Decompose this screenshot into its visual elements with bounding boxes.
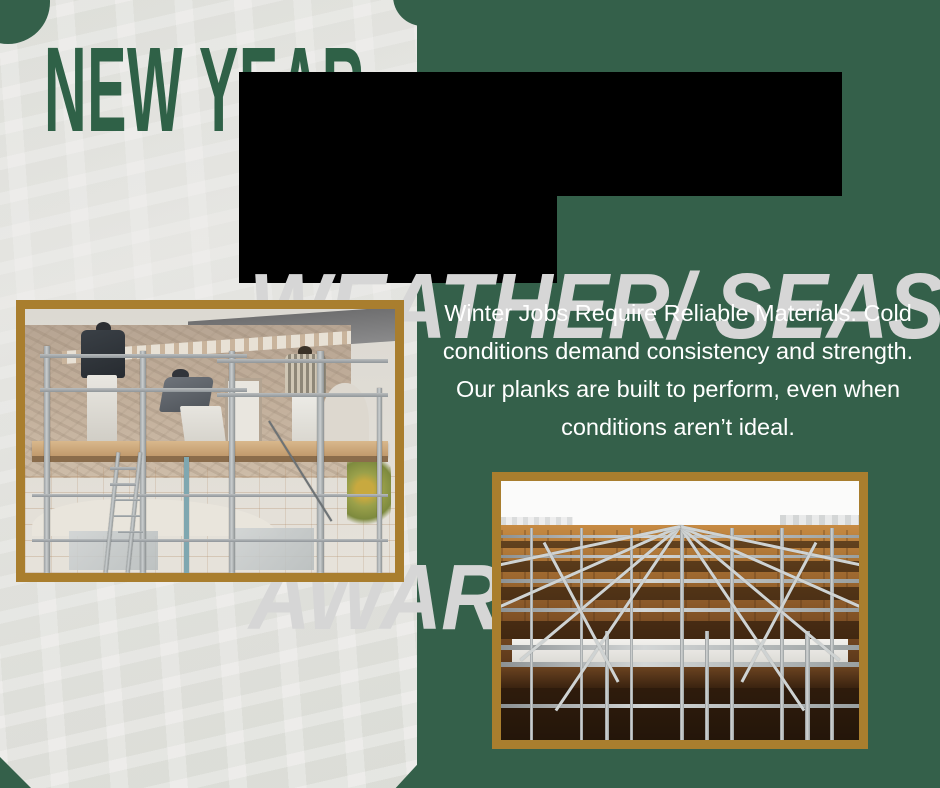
body-paragraph: Winter Jobs Require Reliable Materials. … <box>424 294 932 446</box>
scaffold-planks-perspective-photo <box>501 481 859 740</box>
workers-plastering-facade-photo <box>25 309 395 573</box>
poster-canvas: NEW YEAR WEATHER/ SEASONAL AWARNESS Wint… <box>0 0 940 788</box>
workers-plastering-facade-photo-frame <box>16 300 404 582</box>
scaffold-planks-perspective-photo-frame <box>492 472 868 749</box>
